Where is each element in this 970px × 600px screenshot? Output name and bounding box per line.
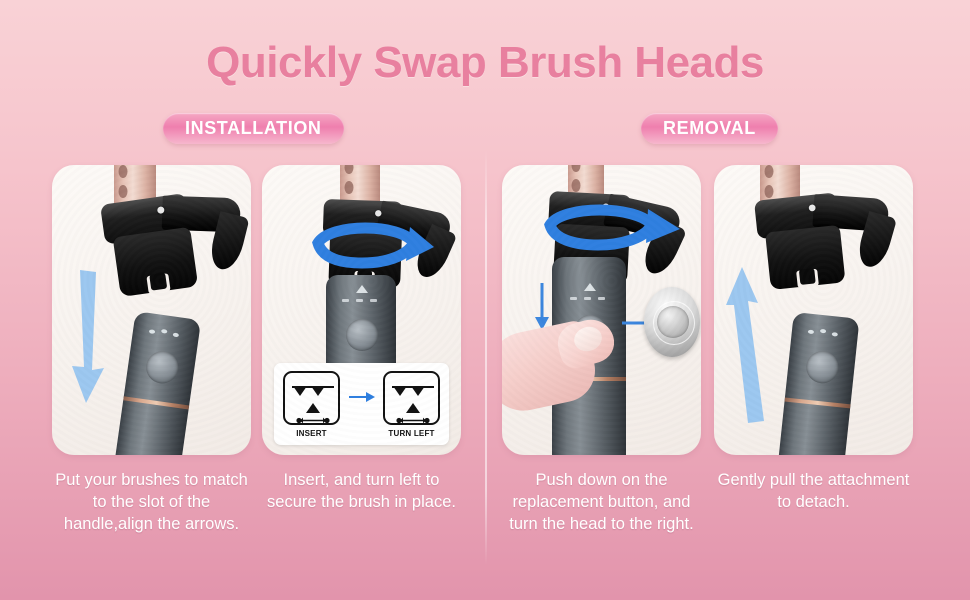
rotate-right-icon	[524, 197, 682, 261]
diagram-step-insert: INSERT	[281, 371, 343, 438]
panel-1-illustration	[52, 165, 251, 455]
panel-1-caption: Put your brushes to match to the slot of…	[52, 469, 251, 535]
product-art-step-1	[52, 165, 251, 455]
diagram-arrow-right-icon	[349, 391, 375, 417]
page-title: Quickly Swap Brush Heads	[0, 38, 970, 88]
section-divider	[485, 150, 487, 565]
panel-2-illustration: INSERT	[262, 165, 461, 455]
arrow-up-icon	[726, 265, 774, 425]
panel-2-caption: Insert, and turn left to secure the brus…	[262, 469, 461, 513]
section-badge-installation: INSTALLATION	[163, 113, 344, 144]
device-handle-icon	[115, 311, 201, 455]
device-handle-icon	[778, 312, 859, 455]
arrow-down-icon	[66, 270, 110, 405]
panel-3-illustration	[502, 165, 701, 455]
product-art-step-4	[714, 165, 913, 455]
unlocked-padlock-icon	[416, 265, 438, 290]
panel-installation-step-2: INSERT	[262, 165, 461, 513]
panel-installation-step-1: Put your brushes to match to the slot of…	[52, 165, 251, 535]
insert-alignment-box	[283, 371, 340, 425]
panel-removal-step-1: Push down on the replacement button, and…	[502, 165, 701, 535]
push-down-arrow-icon	[532, 283, 552, 331]
panel-3-caption: Push down on the replacement button, and…	[502, 469, 701, 535]
panel-removal-step-2: Gently pull the attachment to detach.	[714, 165, 913, 513]
replacement-button-callout	[644, 287, 700, 357]
turn-left-label: TURN LEFT	[381, 429, 443, 438]
diagram-step-turn-left: TURN LEFT	[381, 371, 443, 438]
alignment-diagram: INSERT	[274, 363, 449, 445]
product-art-step-2: INSERT	[262, 165, 461, 455]
panel-4-illustration	[714, 165, 913, 455]
panel-4-caption: Gently pull the attachment to detach.	[714, 469, 913, 513]
product-art-step-3	[502, 165, 701, 455]
infographic-stage: Quickly Swap Brush Heads INSTALLATION RE…	[0, 0, 970, 600]
section-badge-removal: REMOVAL	[641, 113, 778, 144]
insert-label: INSERT	[281, 429, 343, 438]
turn-left-alignment-box	[383, 371, 440, 425]
locked-padlock-icon	[280, 265, 302, 290]
